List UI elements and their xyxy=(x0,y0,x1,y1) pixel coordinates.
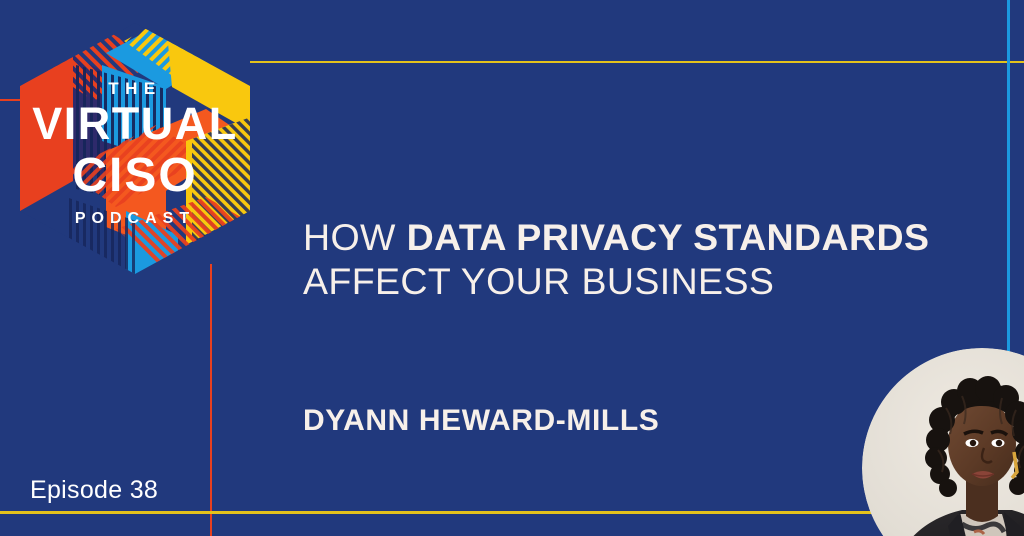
logo-text-the: THE xyxy=(108,79,162,98)
episode-title-prefix: HOW xyxy=(303,216,407,258)
logo-text-podcast: PODCAST xyxy=(75,210,195,227)
guest-name: DYANN HEWARD-MILLS xyxy=(303,404,659,438)
guest-portrait xyxy=(862,348,1024,536)
podcast-episode-graphic: THE VIRTUAL CISO PODCAST HOW DATA PRIVAC… xyxy=(0,0,1024,536)
episode-title: HOW DATA PRIVACY STANDARDS AFFECT YOUR B… xyxy=(303,216,963,304)
episode-number-label: Episode 38 xyxy=(30,476,158,505)
episode-title-emphasis: DATA PRIVACY STANDARDS xyxy=(407,216,930,258)
logo-text-virtual: VIRTUAL xyxy=(32,98,238,149)
decor-line-red-vertical xyxy=(210,264,212,536)
decor-line-yellow-top xyxy=(250,61,1024,63)
episode-title-line-2: AFFECT YOUR BUSINESS xyxy=(303,260,963,304)
logo-text-ciso: CISO xyxy=(72,149,197,202)
podcast-logo: THE VIRTUAL CISO PODCAST xyxy=(6,21,264,276)
episode-title-line-1: HOW DATA PRIVACY STANDARDS xyxy=(303,216,963,260)
